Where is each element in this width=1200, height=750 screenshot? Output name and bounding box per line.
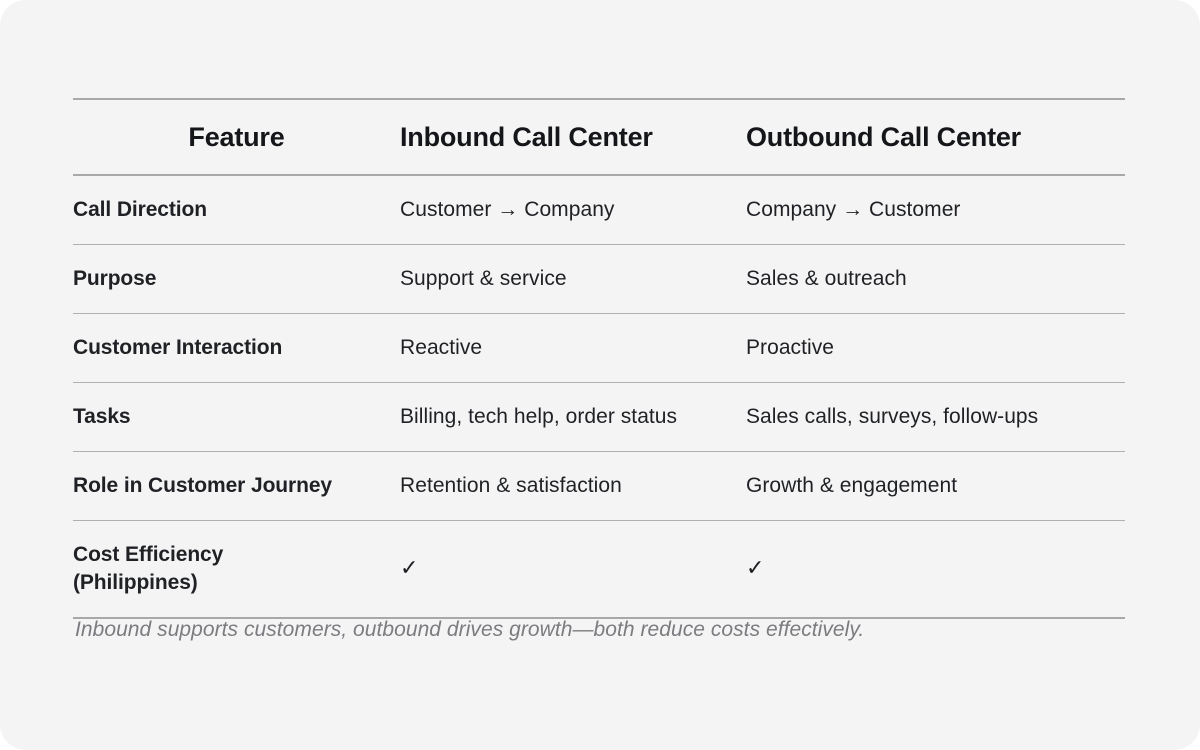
row-outbound-value: Sales & outreach [746, 245, 1125, 314]
column-header-feature: Feature [73, 99, 400, 175]
comparison-table-container: Feature Inbound Call Center Outbound Cal… [73, 98, 1125, 619]
row-outbound-value: ✓ [746, 521, 1125, 619]
column-header-outbound: Outbound Call Center [746, 99, 1125, 175]
row-outbound-value: Proactive [746, 314, 1125, 383]
row-feature-label: Call Direction [73, 175, 400, 245]
row-feature-label: Role in Customer Journey [73, 452, 400, 521]
check-icon: ✓ [746, 557, 764, 579]
row-feature-label: Tasks [73, 383, 400, 452]
row-feature-label-line2: (Philippines) [73, 571, 198, 594]
row-inbound-value: Billing, tech help, order status [400, 383, 746, 452]
row-outbound-value: Growth & engagement [746, 452, 1125, 521]
table-caption: Inbound supports customers, outbound dri… [75, 618, 864, 642]
table-row: Call Direction Customer → Company Compan… [73, 175, 1125, 245]
table-header-row: Feature Inbound Call Center Outbound Cal… [73, 99, 1125, 175]
comparison-card: Feature Inbound Call Center Outbound Cal… [0, 0, 1200, 750]
row-outbound-value: Sales calls, surveys, follow-ups [746, 383, 1125, 452]
table-row: Cost Efficiency(Philippines) ✓ ✓ [73, 521, 1125, 619]
check-icon: ✓ [400, 557, 418, 579]
row-feature-label: Customer Interaction [73, 314, 400, 383]
row-inbound-value: Support & service [400, 245, 746, 314]
table-body: Call Direction Customer → Company Compan… [73, 175, 1125, 618]
table-row: Customer Interaction Reactive Proactive [73, 314, 1125, 383]
row-feature-label: Purpose [73, 245, 400, 314]
row-inbound-value: Reactive [400, 314, 746, 383]
table-row: Tasks Billing, tech help, order status S… [73, 383, 1125, 452]
table-row: Purpose Support & service Sales & outrea… [73, 245, 1125, 314]
comparison-table: Feature Inbound Call Center Outbound Cal… [73, 98, 1125, 619]
column-header-inbound: Inbound Call Center [400, 99, 746, 175]
row-feature-label-line1: Cost Efficiency [73, 543, 223, 566]
table-row: Role in Customer Journey Retention & sat… [73, 452, 1125, 521]
row-inbound-value: Customer → Company [400, 175, 746, 245]
row-inbound-value: Retention & satisfaction [400, 452, 746, 521]
row-outbound-value: Company → Customer [746, 175, 1125, 245]
row-feature-label: Cost Efficiency(Philippines) [73, 521, 400, 619]
table-header: Feature Inbound Call Center Outbound Cal… [73, 99, 1125, 175]
row-inbound-value: ✓ [400, 521, 746, 619]
